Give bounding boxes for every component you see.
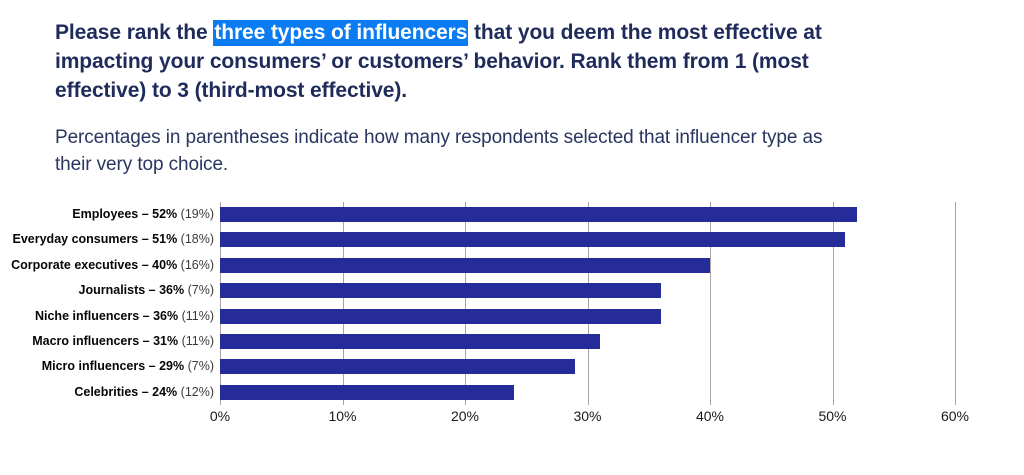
x-axis-tick: 60% — [941, 408, 969, 424]
x-axis-tick: 30% — [573, 408, 601, 424]
y-axis-labels: Employees – 52% (19%)Everyday consumers … — [0, 202, 214, 405]
y-axis-label-top-choice: (7%) — [188, 359, 214, 373]
y-axis-label: Corporate executives – 40% (16%) — [0, 253, 214, 278]
y-axis-label-top-choice: (11%) — [182, 334, 214, 348]
x-axis-tick: 50% — [818, 408, 846, 424]
y-axis-label-main: Journalists – 36% — [79, 283, 188, 297]
x-axis-tick: 0% — [210, 408, 230, 424]
y-axis-label-main: Employees – 52% — [72, 207, 180, 221]
bar-series — [220, 202, 955, 405]
y-axis-label-main: Niche influencers – 36% — [35, 309, 182, 323]
y-axis-label-main: Micro influencers – 29% — [42, 359, 188, 373]
bar-row[interactable] — [220, 304, 955, 329]
y-axis-label-main: Everyday consumers – 51% — [13, 232, 181, 246]
y-axis-label: Celebrities – 24% (12%) — [0, 380, 214, 405]
gridline-60% — [955, 202, 956, 405]
y-axis-label: Micro influencers – 29% (7%) — [0, 354, 214, 379]
bar[interactable] — [220, 385, 514, 400]
x-axis-tick: 10% — [328, 408, 356, 424]
y-axis-label-main: Macro influencers – 31% — [32, 334, 181, 348]
page-title: Please rank the three types of influence… — [55, 18, 955, 105]
x-axis-tick: 40% — [696, 408, 724, 424]
y-axis-label-top-choice: (12%) — [181, 385, 214, 399]
title-line-1-post: that you deem the most effective at — [468, 21, 821, 44]
bar[interactable] — [220, 232, 845, 247]
y-axis-label-main: Celebrities – 24% — [74, 385, 180, 399]
bar-row[interactable] — [220, 329, 955, 354]
bar[interactable] — [220, 283, 661, 298]
y-axis-label: Everyday consumers – 51% (18%) — [0, 227, 214, 252]
bar-chart: Employees – 52% (19%)Everyday consumers … — [0, 190, 1024, 440]
bar-row[interactable] — [220, 253, 955, 278]
y-axis-label: Journalists – 36% (7%) — [0, 278, 214, 303]
bar[interactable] — [220, 359, 575, 374]
y-axis-label-top-choice: (16%) — [181, 258, 214, 272]
plot-area — [220, 202, 955, 405]
y-axis-label: Employees – 52% (19%) — [0, 202, 214, 227]
subtitle: Percentages in parentheses indicate how … — [55, 124, 975, 178]
x-axis-labels: 0%10%20%30%40%50%60% — [220, 408, 955, 432]
y-axis-label-main: Corporate executives – 40% — [11, 258, 181, 272]
y-axis-label: Macro influencers – 31% (11%) — [0, 329, 214, 354]
bar-row[interactable] — [220, 227, 955, 252]
bar-row[interactable] — [220, 354, 955, 379]
y-axis-label-top-choice: (7%) — [188, 283, 214, 297]
bar-row[interactable] — [220, 202, 955, 227]
title-line-2: impacting your consumers’ or customers’ … — [55, 47, 955, 76]
subtitle-line-2: their very top choice. — [55, 151, 975, 178]
y-axis-label-top-choice: (11%) — [182, 309, 214, 323]
x-axis-tick: 20% — [451, 408, 479, 424]
bar[interactable] — [220, 207, 857, 222]
y-axis-label: Niche influencers – 36% (11%) — [0, 304, 214, 329]
bar-row[interactable] — [220, 278, 955, 303]
title-line-3: effective) to 3 (third-most effective). — [55, 76, 955, 105]
subtitle-line-1: Percentages in parentheses indicate how … — [55, 124, 975, 151]
bar[interactable] — [220, 334, 600, 349]
title-line-1-pre: Please rank the — [55, 21, 213, 44]
bar-row[interactable] — [220, 380, 955, 405]
bar[interactable] — [220, 258, 710, 273]
bar[interactable] — [220, 309, 661, 324]
title-highlight: three types of influencers — [213, 20, 468, 46]
y-axis-label-top-choice: (18%) — [181, 232, 214, 246]
title-line-1: Please rank the three types of influence… — [55, 18, 955, 47]
y-axis-label-top-choice: (19%) — [181, 207, 214, 221]
